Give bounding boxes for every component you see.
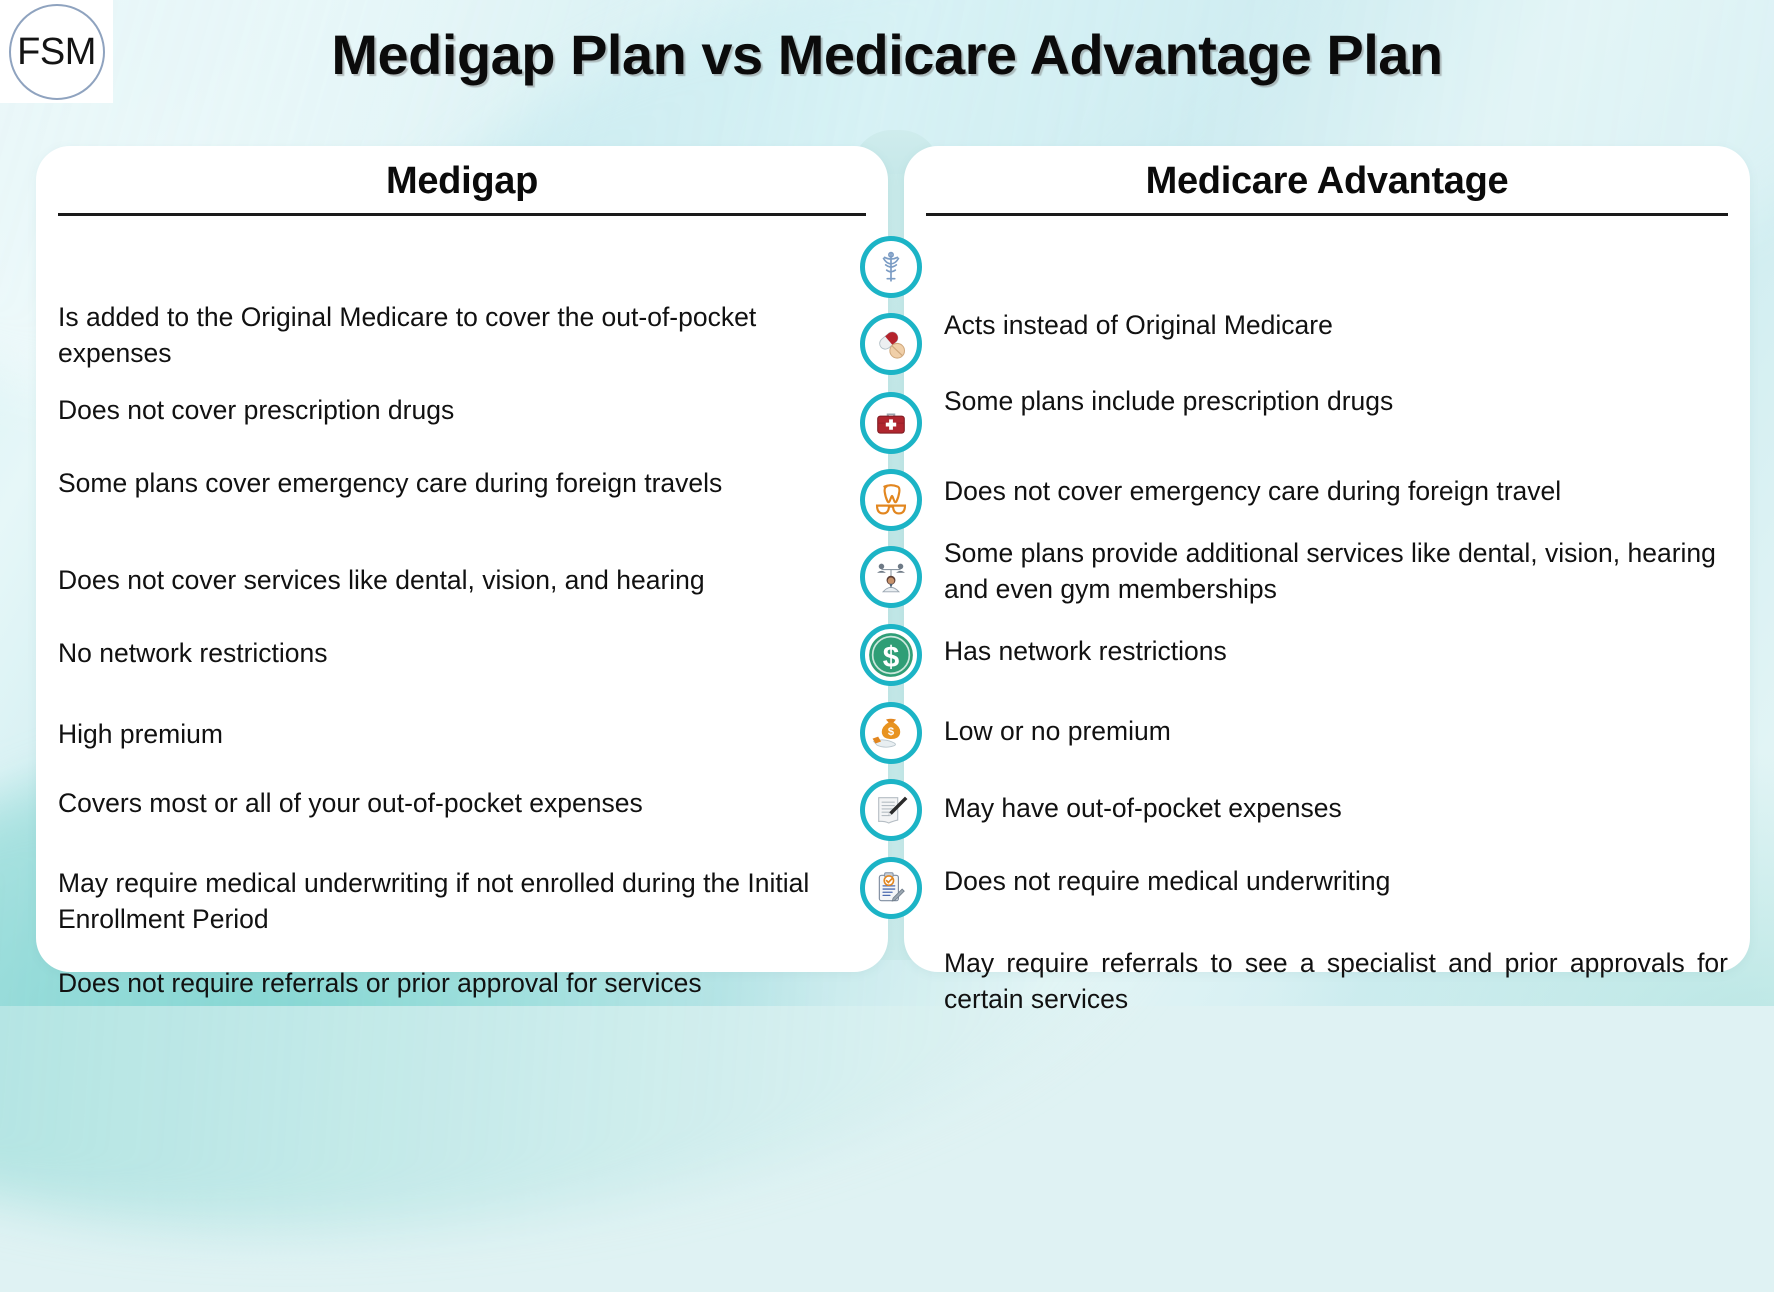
document-pen-icon	[860, 779, 922, 841]
medigap-heading: Medigap	[36, 146, 888, 203]
medicare-advantage-item: Some plans include prescription drugs	[944, 384, 1728, 420]
medicare-advantage-item: Low or no premium	[944, 714, 1728, 750]
svg-text:$: $	[888, 726, 895, 738]
first-aid-kit-icon	[860, 392, 922, 454]
medigap-item: Some plans cover emergency care during f…	[58, 466, 870, 502]
medigap-item: Is added to the Original Medicare to cov…	[58, 300, 870, 371]
logo-text: FSM	[17, 33, 96, 71]
medicare-advantage-item: Does not cover emergency care during for…	[944, 474, 1728, 510]
medigap-item: May require medical underwriting if not …	[58, 866, 870, 937]
medigap-item: Covers most or all of your out-of-pocket…	[58, 786, 870, 822]
medigap-item: Does not require referrals or prior appr…	[58, 966, 870, 1002]
fsm-circle-logo: FSM	[0, 0, 113, 103]
medigap-item: No network restrictions	[58, 636, 870, 672]
network-people-icon	[860, 546, 922, 608]
medicare-advantage-item: Does not require medical underwriting	[944, 864, 1728, 900]
medigap-item: High premium	[58, 717, 870, 753]
medicare-advantage-heading: Medicare Advantage	[904, 146, 1750, 203]
medicare-advantage-heading-rule	[926, 213, 1728, 216]
money-bag-hand-icon: $	[860, 702, 922, 764]
medicare-advantage-item: Some plans provide additional services l…	[944, 536, 1728, 607]
medicare-advantage-item: May have out-of-pocket expenses	[944, 791, 1728, 827]
medigap-card: Medigap Is added to the Original Medicar…	[36, 146, 888, 972]
dollar-coin-icon: $	[860, 624, 922, 686]
pills-icon	[860, 313, 922, 375]
svg-text:$: $	[883, 641, 900, 674]
clipboard-approval-icon	[860, 857, 922, 919]
logo-ring: FSM	[9, 4, 105, 100]
tooth-glasses-icon	[860, 469, 922, 531]
medicare-advantage-item: Has network restrictions	[944, 634, 1728, 670]
medicare-advantage-card: Medicare Advantage Acts instead of Origi…	[904, 146, 1750, 972]
caduceus-icon	[860, 236, 922, 298]
page-title: Medigap Plan vs Medicare Advantage Plan	[0, 22, 1774, 87]
medigap-item: Does not cover prescription drugs	[58, 393, 870, 429]
medicare-advantage-item: Acts instead of Original Medicare	[944, 308, 1728, 344]
medigap-item: Does not cover services like dental, vis…	[58, 563, 870, 599]
comparison-icon-column: $ $	[860, 146, 932, 972]
medigap-heading-rule	[58, 213, 866, 216]
medicare-advantage-item: May require referrals to see a specialis…	[944, 946, 1728, 1017]
